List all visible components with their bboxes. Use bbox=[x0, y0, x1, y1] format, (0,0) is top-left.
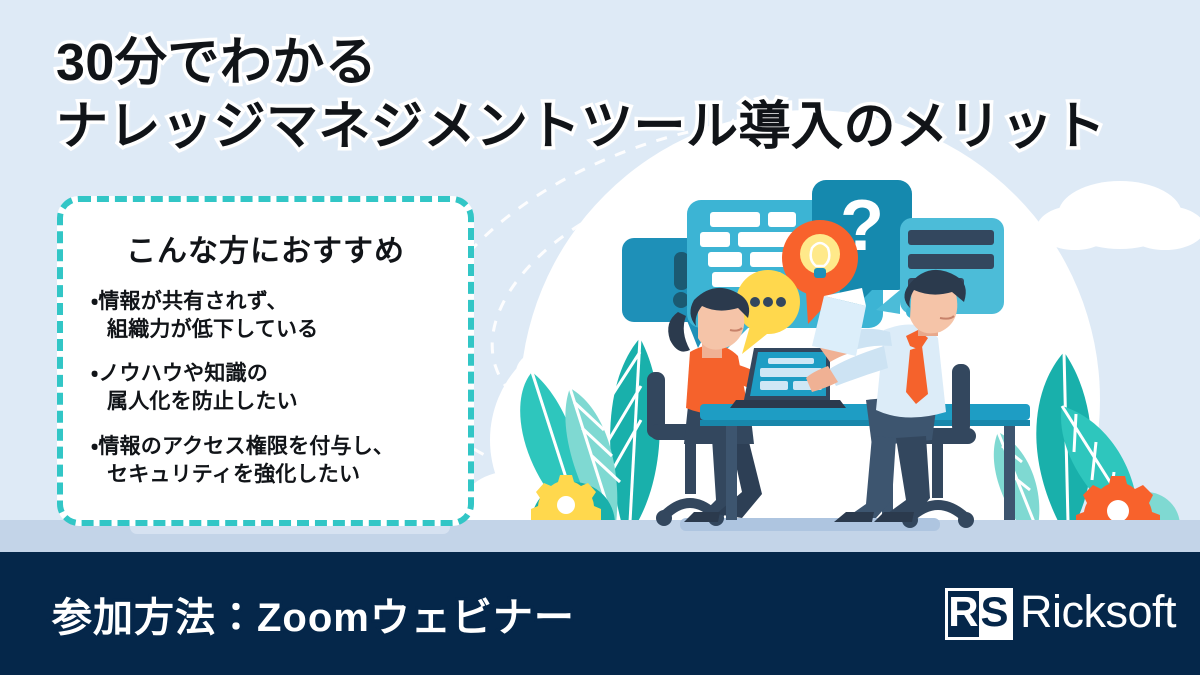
card-heading: こんな方におすすめ bbox=[63, 226, 468, 270]
list-item-line1: ・情報が共有されず、 bbox=[91, 290, 288, 313]
webinar-banner: ? bbox=[0, 0, 1200, 675]
list-item-line1: ・情報のアクセス権限を付与し、 bbox=[91, 435, 394, 458]
footer-bar: 参加方法：Zoomウェビナー R S Ricksoft bbox=[0, 552, 1200, 675]
recommendation-list: ・情報が共有されず、 組織力が低下している ・ノウハウや知識の 属人化を防止した… bbox=[63, 288, 468, 488]
list-item: ・ノウハウや知識の 属人化を防止したい bbox=[91, 360, 468, 415]
list-item-line2: 属人化を防止したい bbox=[91, 388, 468, 416]
rs-logo-icon: R S bbox=[945, 588, 1013, 640]
logo-letter-r: R bbox=[948, 591, 979, 637]
list-item: ・情報のアクセス権限を付与し、 セキュリティを強化したい bbox=[91, 433, 468, 488]
list-item-line2: 組織力が低下している bbox=[91, 316, 468, 344]
participation-method: 参加方法：Zoomウェビナー bbox=[52, 585, 575, 643]
title-line-1: 30分でわかる bbox=[56, 34, 1106, 92]
list-item: ・情報が共有されず、 組織力が低下している bbox=[91, 288, 468, 343]
logo-wordmark: Ricksoft bbox=[1020, 589, 1176, 638]
page-title: 30分でわかる ナレッジマネジメントツール導入のメリット bbox=[56, 34, 1106, 156]
title-line-2: ナレッジマネジメントツール導入のメリット bbox=[56, 98, 1106, 156]
list-item-line2: セキュリティを強化したい bbox=[91, 461, 468, 489]
recommendation-card: こんな方におすすめ ・情報が共有されず、 組織力が低下している ・ノウハウや知識… bbox=[57, 196, 474, 526]
logo-letter-s: S bbox=[979, 591, 1010, 637]
list-item-line1: ・ノウハウや知識の bbox=[91, 362, 268, 385]
ricksoft-logo: R S Ricksoft bbox=[945, 588, 1176, 640]
